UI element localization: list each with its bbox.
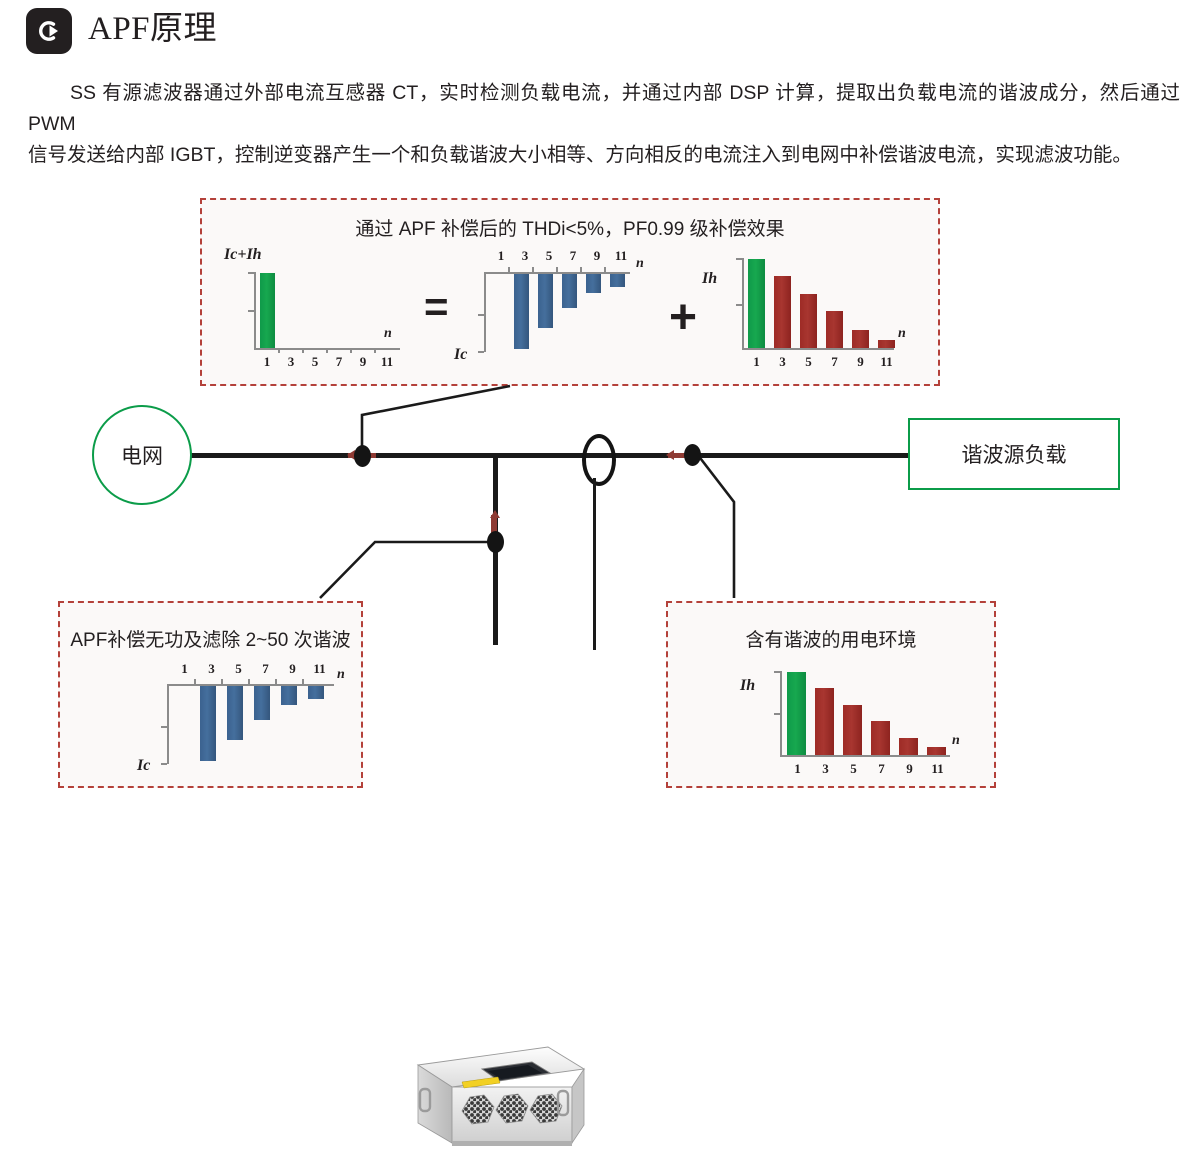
harmonic-load-box: 谐波源负载 — [908, 418, 1120, 490]
xtick: 7 — [823, 354, 846, 370]
intro-line-1: SS 有源滤波器通过外部电流互感器 CT，实时检测负载电流，并通过内部 DSP … — [28, 78, 1180, 140]
leader-line-top — [350, 378, 530, 458]
xtick: 1 — [785, 761, 810, 777]
bar-ic-7 — [562, 274, 577, 308]
chart-ic-plus-ih-xlabel: n — [384, 326, 392, 342]
bar-ih-11 — [878, 340, 895, 348]
xtick: 5 — [227, 661, 250, 677]
equals-symbol: = — [424, 286, 449, 328]
bar-ih-3 — [774, 276, 791, 348]
bar-ih-7 — [826, 311, 843, 348]
main-bus-wire — [185, 453, 910, 458]
circular-arrow-icon — [26, 8, 72, 54]
xtick: 3 — [514, 248, 536, 264]
xtick: 9 — [281, 661, 304, 677]
bar-env-3 — [815, 688, 834, 755]
bar-ic-9 — [586, 274, 601, 293]
chart-apf-xlabel: n — [337, 667, 345, 683]
xtick: 5 — [841, 761, 866, 777]
chart-ic-ylabel: Ic — [454, 346, 467, 364]
xtick: 9 — [897, 761, 922, 777]
bus-arrow-right — [666, 450, 674, 460]
bottom-right-panel-title: 含有谐波的用电环境 — [668, 625, 994, 652]
xtick: 3 — [813, 761, 838, 777]
bar-ic-3 — [514, 274, 529, 349]
xtick: 9 — [849, 354, 872, 370]
grid-source-node: 电网 — [92, 405, 192, 505]
leader-line-bottom-left — [310, 530, 510, 610]
bottom-left-panel-title: APF补偿无功及滤除 2~50 次谐波 — [60, 625, 361, 652]
bar-ih-5 — [800, 294, 817, 348]
bar-ic-11 — [610, 274, 625, 287]
chart-apf-ylabel: Ic — [137, 757, 150, 775]
xtick: 5 — [304, 354, 326, 370]
bar-apf-7 — [254, 686, 270, 720]
bar-apf-11 — [308, 686, 324, 699]
intro-line-2: 信号发送给内部 IGBT，控制逆变器产生一个和负载谐波大小相等、方向相反的电流注… — [28, 140, 1180, 171]
ct-ring-icon — [582, 434, 616, 486]
xtick: 1 — [490, 248, 512, 264]
apf-branch-node — [487, 531, 504, 553]
chart-ih: Ih 1 3 5 7 9 11 n — [702, 248, 922, 380]
xtick: 11 — [875, 354, 898, 370]
xtick: 1 — [256, 354, 278, 370]
xtick: 9 — [586, 248, 608, 264]
xtick: 3 — [200, 661, 223, 677]
grid-source-label: 电网 — [121, 440, 163, 470]
chart-ic-plus-ih: Ic+Ih 1 3 5 7 9 11 n — [216, 248, 406, 376]
xtick: 7 — [328, 354, 350, 370]
apf-branch-arrow-up — [490, 510, 500, 518]
xtick: 11 — [610, 248, 632, 264]
bar-apf-5 — [227, 686, 243, 740]
top-result-panel: 通过 APF 补偿后的 THDi<5%，PF0.99 级补偿效果 Ic+Ih 1… — [200, 198, 940, 386]
xtick: 1 — [745, 354, 768, 370]
bottom-left-panel: APF补偿无功及滤除 2~50 次谐波 1 3 5 7 9 11 — [58, 601, 363, 788]
intro-paragraph: SS 有源滤波器通过外部电流互感器 CT，实时检测负载电流，并通过内部 DSP … — [28, 78, 1180, 171]
xtick: 5 — [538, 248, 560, 264]
xtick: 3 — [771, 354, 794, 370]
xtick: 3 — [280, 354, 302, 370]
bar-ic-plus-ih-1 — [260, 273, 275, 348]
bus-node-left — [354, 445, 371, 467]
page-title: APF原理 — [88, 13, 217, 50]
xtick: 11 — [925, 761, 950, 777]
plus-symbol: + — [669, 294, 697, 342]
bar-env-11 — [927, 747, 946, 755]
ct-secondary-wire — [593, 478, 596, 650]
chart-harmonic-environment: Ih 1 3 5 7 9 11 n — [708, 661, 958, 781]
chart-ic-xlabel: n — [636, 256, 644, 272]
top-panel-title: 通过 APF 补偿后的 THDi<5%，PF0.99 级补偿效果 — [202, 214, 938, 241]
bar-ic-5 — [538, 274, 553, 328]
bar-env-5 — [843, 705, 862, 755]
chart-apf-compensation: 1 3 5 7 9 11 n Ic — [115, 661, 335, 781]
bar-env-9 — [899, 738, 918, 755]
xtick: 11 — [308, 661, 331, 677]
chart-ih-xlabel: n — [898, 326, 906, 342]
bar-ih-9 — [852, 330, 869, 348]
page-root: APF原理 SS 有源滤波器通过外部电流互感器 CT，实时检测负载电流，并通过内… — [0, 0, 1200, 833]
leader-line-bottom-right — [688, 446, 748, 602]
chart-ic-plus-ih-ylabel: Ic+Ih — [224, 246, 262, 264]
xtick: 5 — [797, 354, 820, 370]
chart-harmonic-xlabel: n — [952, 733, 960, 749]
chart-ic: 1 3 5 7 9 11 n Ic — [464, 248, 664, 380]
xtick: 9 — [352, 354, 374, 370]
bar-ih-1 — [748, 259, 765, 348]
harmonic-load-label: 谐波源负载 — [962, 439, 1067, 469]
xtick: 11 — [376, 354, 398, 370]
bar-env-7 — [871, 721, 890, 755]
bar-env-1 — [787, 672, 806, 755]
page-header: APF原理 — [26, 8, 217, 54]
chart-ih-ylabel: Ih — [702, 270, 717, 288]
bus-node-right — [684, 444, 701, 466]
bar-apf-9 — [281, 686, 297, 705]
bar-apf-3 — [200, 686, 216, 761]
xtick: 7 — [869, 761, 894, 777]
apf-device-photo — [398, 1035, 586, 1157]
bottom-right-panel: 含有谐波的用电环境 Ih 1 3 5 7 9 11 n — [666, 601, 996, 788]
xtick: 1 — [173, 661, 196, 677]
chart-harmonic-ylabel: Ih — [740, 677, 755, 695]
xtick: 7 — [562, 248, 584, 264]
xtick: 7 — [254, 661, 277, 677]
